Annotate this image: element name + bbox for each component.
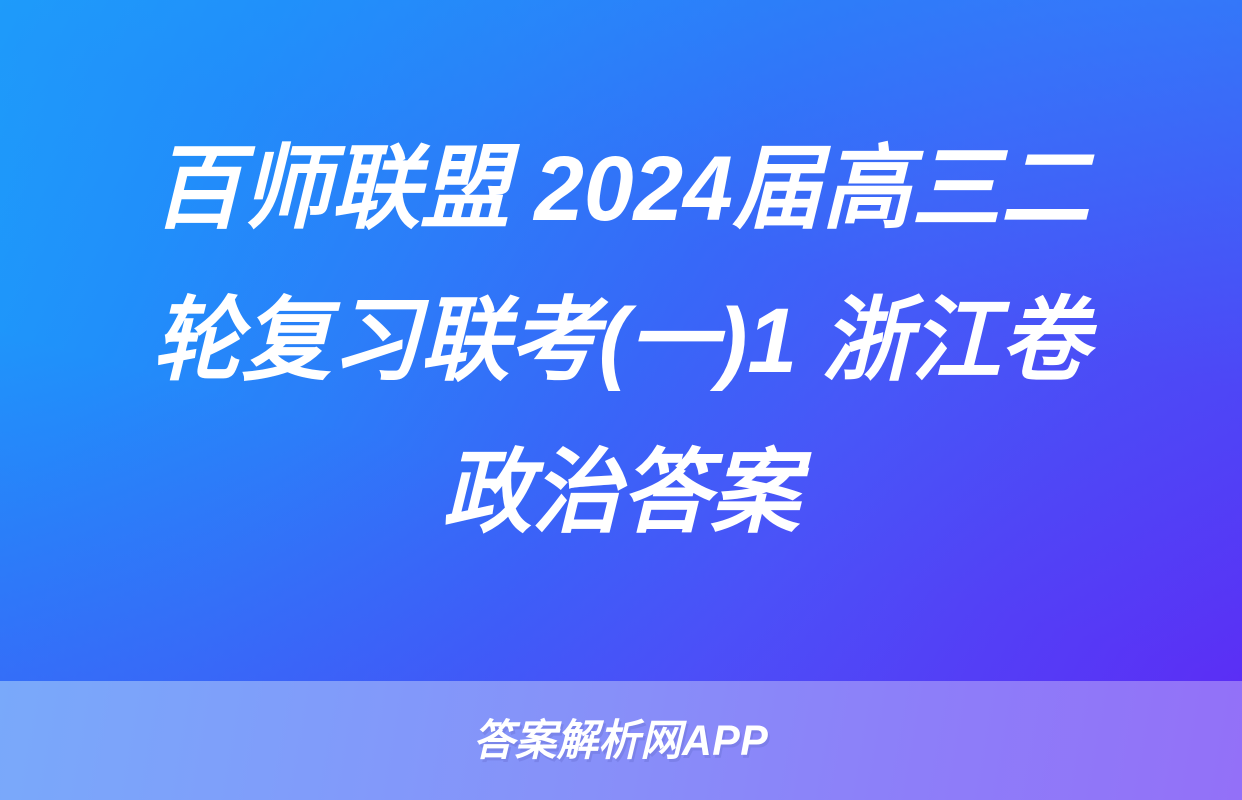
poster-banner: 百师联盟 2024届高三二 轮复习联考(一)1 浙江卷 政治答案 答案解析网AP…	[0, 0, 1242, 800]
title-line-3: 政治答案	[443, 417, 800, 569]
app-watermark-label: 答案解析网APP	[473, 720, 768, 763]
footer-bar: 答案解析网APP	[0, 681, 1242, 800]
title-line-2: 轮复习联考(一)1 浙江卷	[152, 265, 1089, 417]
title-line-1: 百师联盟 2024届高三二	[152, 113, 1089, 265]
poster-title: 百师联盟 2024届高三二 轮复习联考(一)1 浙江卷 政治答案	[0, 0, 1242, 681]
